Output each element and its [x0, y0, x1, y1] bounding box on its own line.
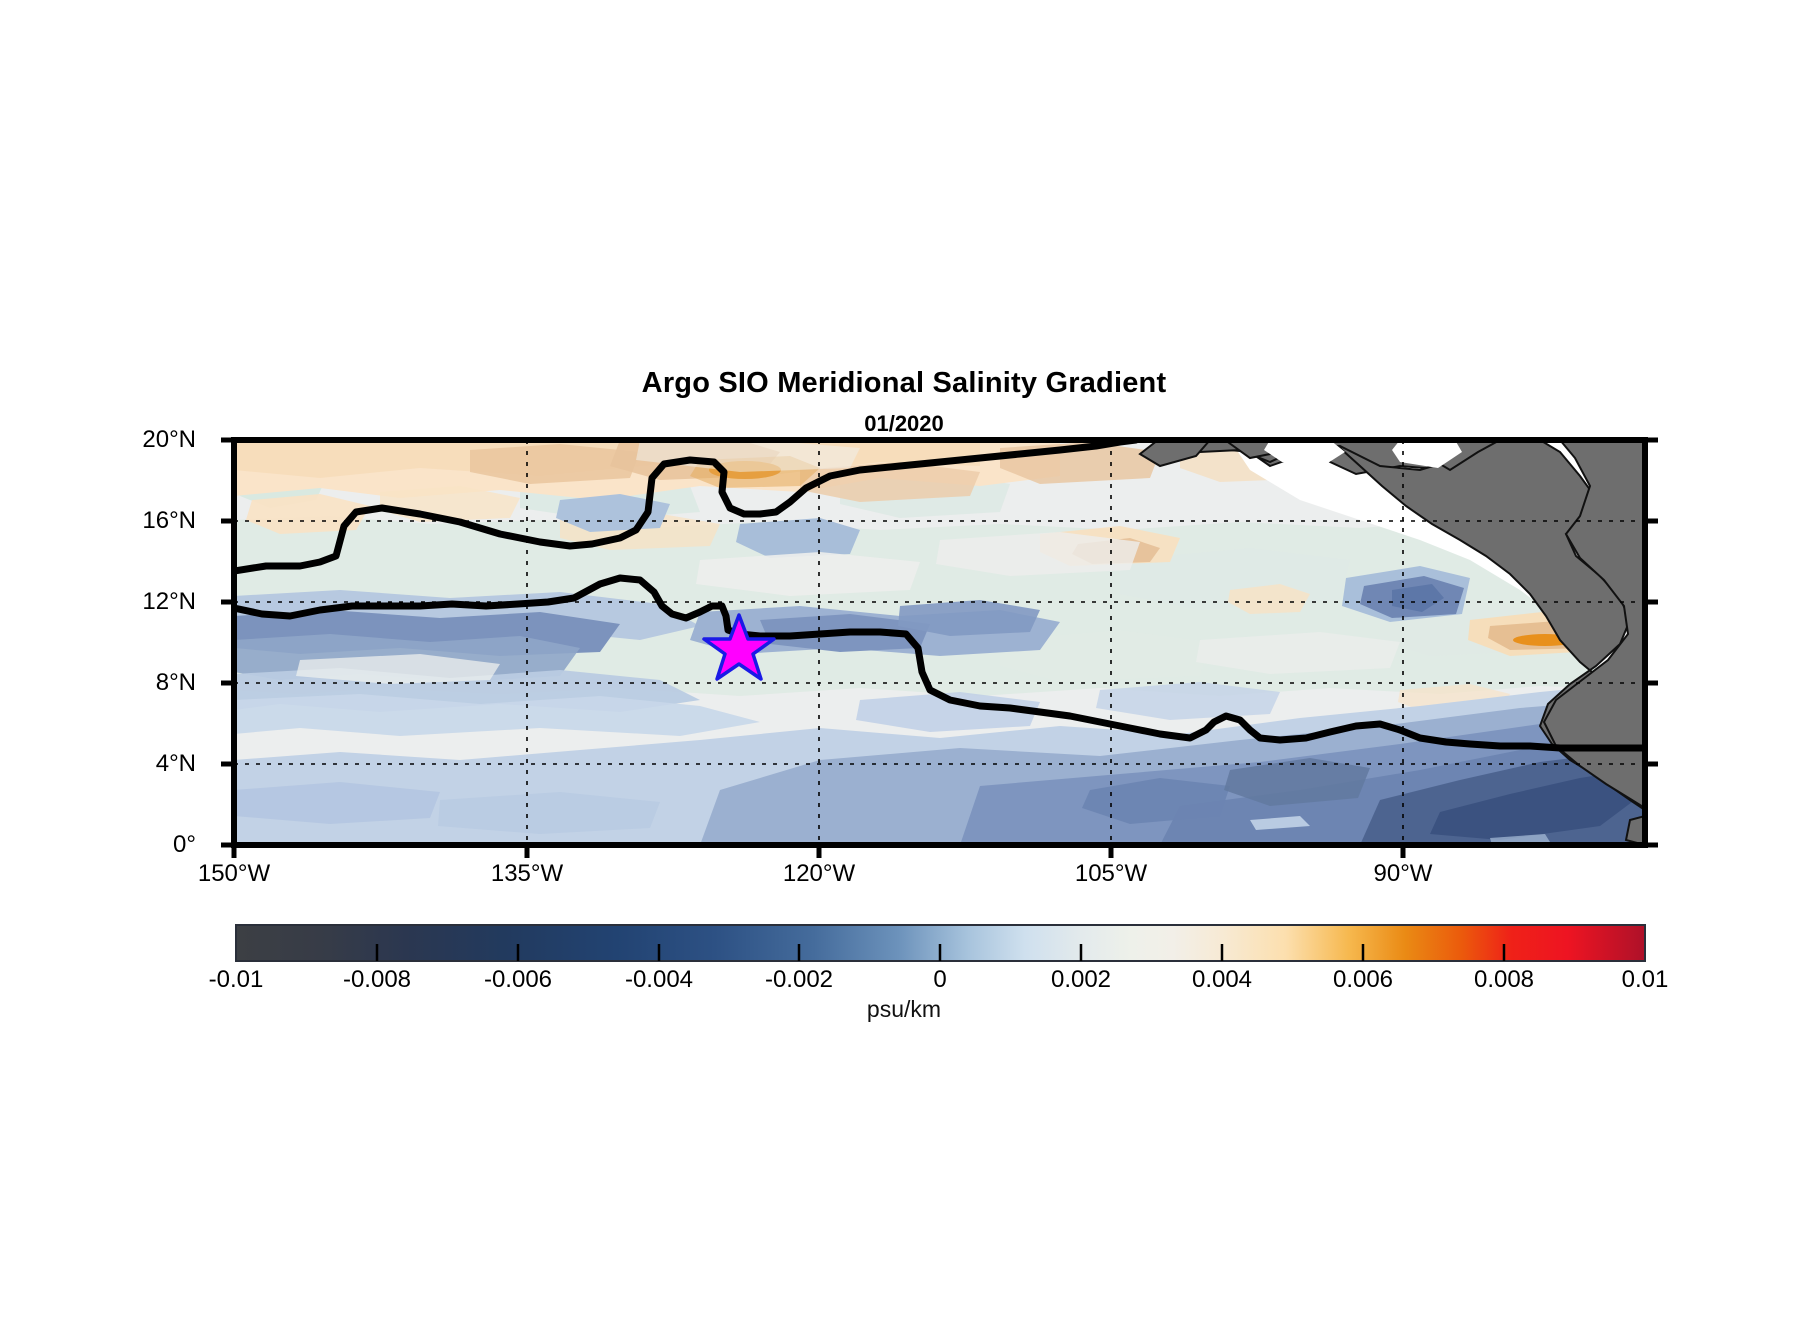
- ytick-label-0: 0°: [76, 831, 196, 859]
- xtick-label-135w: 135°W: [427, 860, 627, 888]
- ytick-label-20n: 20°N: [76, 426, 196, 454]
- xtick-label-90w: 90°W: [1303, 860, 1503, 888]
- colorbar-units-label: psu/km: [0, 996, 1808, 1023]
- ytick-label-16n: 16°N: [76, 507, 196, 535]
- ytick-label-12n: 12°N: [76, 588, 196, 616]
- ytick-label-8n: 8°N: [76, 669, 196, 697]
- cbtick-label-10: 0.01: [1545, 966, 1745, 994]
- xtick-label-120w: 120°W: [719, 860, 919, 888]
- xtick-label-105w: 105°W: [1011, 860, 1211, 888]
- figure-canvas: Argo SIO Meridional Salinity Gradient 01…: [0, 0, 1808, 1333]
- xtick-label-150w: 150°W: [134, 860, 334, 888]
- ytick-label-4n: 4°N: [76, 750, 196, 778]
- map-svg: [0, 0, 1808, 1333]
- contour-field: [234, 440, 1645, 845]
